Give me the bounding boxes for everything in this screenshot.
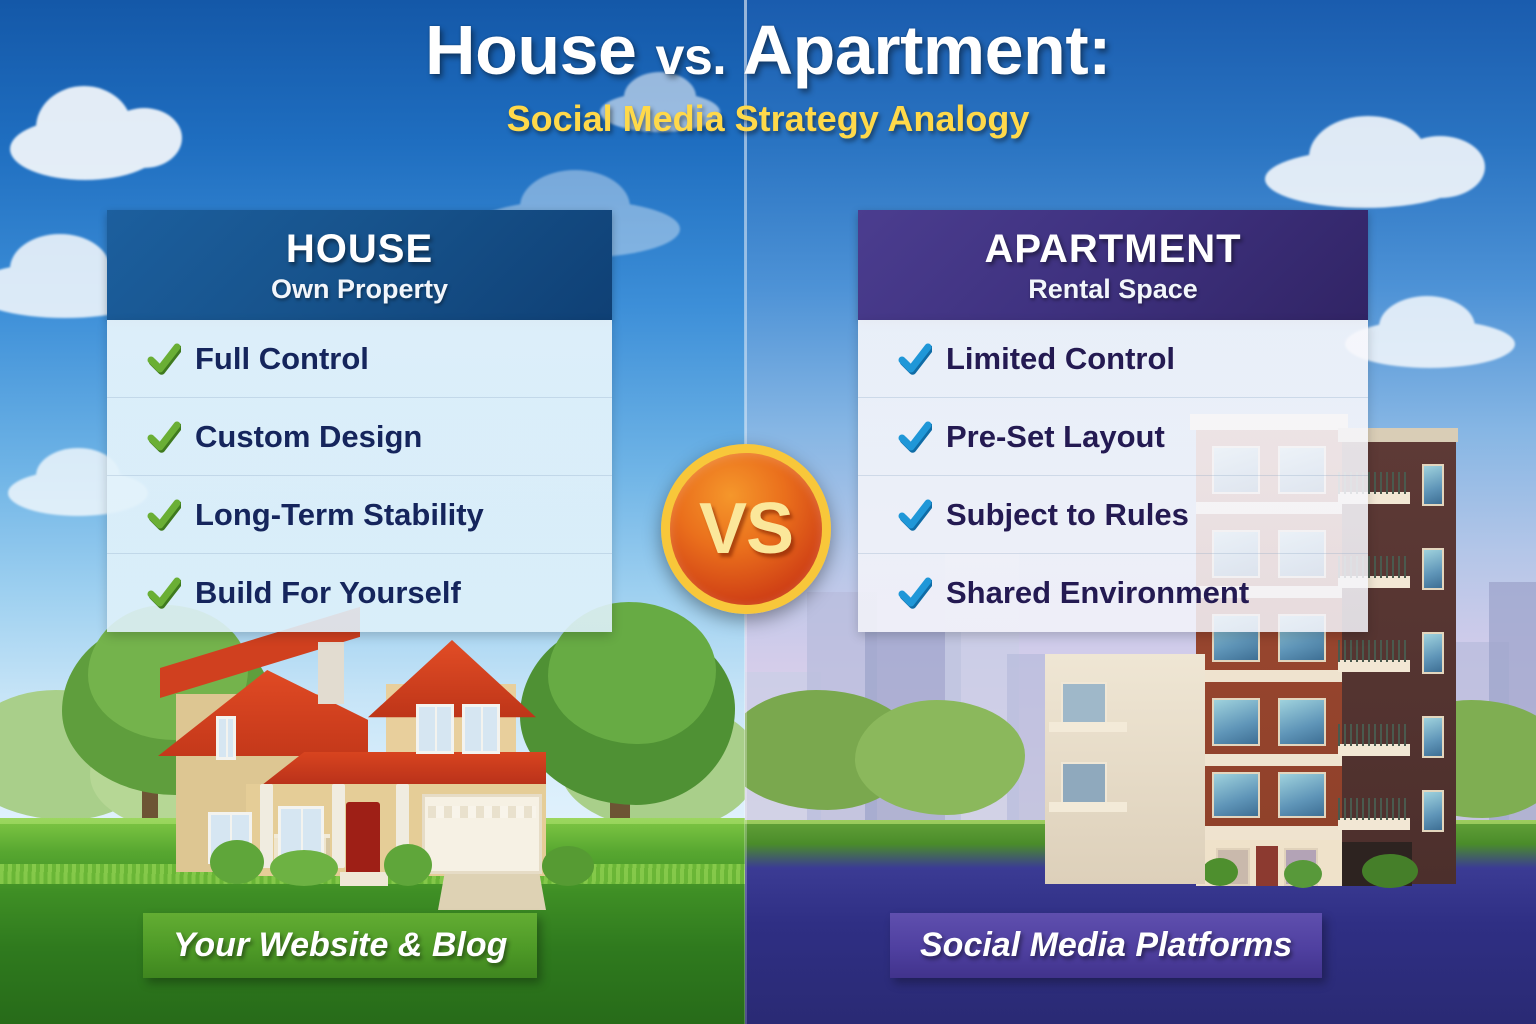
bush xyxy=(1362,854,1418,888)
chimney xyxy=(318,642,344,704)
page-title: House vs. Apartment: xyxy=(0,14,1536,88)
versus-badge-label: VS xyxy=(699,488,793,570)
house-panel-header: HOUSE Own Property xyxy=(107,210,612,320)
adjacent-building-window xyxy=(1061,762,1107,804)
title-part-two: Apartment: xyxy=(743,11,1111,89)
title-part-one: House xyxy=(425,11,636,89)
driveway xyxy=(438,874,546,910)
apartment-window xyxy=(1212,698,1260,746)
adjacent-building-window xyxy=(1061,682,1107,724)
list-item: Shared Environment xyxy=(858,554,1368,632)
garage-panel xyxy=(428,806,536,818)
list-item-label: Custom Design xyxy=(195,419,422,455)
check-icon xyxy=(147,498,181,532)
house-window xyxy=(216,716,236,760)
front-door xyxy=(346,802,380,874)
title-versus-word: vs. xyxy=(655,28,726,86)
background-foliage xyxy=(855,700,1025,815)
check-icon xyxy=(898,498,932,532)
adjacent-balcony-slab xyxy=(1049,802,1127,812)
apartment-window xyxy=(1422,464,1444,506)
check-icon xyxy=(898,576,932,610)
list-item-label: Full Control xyxy=(195,341,369,377)
house-panel-subheading: Own Property xyxy=(117,274,602,305)
list-item: Custom Design xyxy=(107,398,612,476)
bush xyxy=(210,840,264,884)
apartment-window xyxy=(1278,698,1326,746)
house-illustration xyxy=(150,634,610,884)
page-subtitle: Social Media Strategy Analogy xyxy=(0,98,1536,140)
bush xyxy=(270,850,338,886)
house-caption-label: Your Website & Blog xyxy=(173,926,507,964)
adjacent-balcony-slab xyxy=(1049,722,1127,732)
apartment-panel-subheading: Rental Space xyxy=(868,274,1358,305)
list-item-label: Long-Term Stability xyxy=(195,497,484,533)
list-item: Long-Term Stability xyxy=(107,476,612,554)
apartment-window xyxy=(1422,548,1444,590)
title-block: House vs. Apartment: Social Media Strate… xyxy=(0,14,1536,140)
apartment-window xyxy=(1422,632,1444,674)
apartment-caption-banner: Social Media Platforms xyxy=(890,913,1322,978)
floor-band xyxy=(1196,826,1342,840)
apartment-entry-door xyxy=(1256,846,1278,886)
list-item-label: Shared Environment xyxy=(946,575,1249,611)
balcony-railing xyxy=(1338,724,1410,746)
house-feature-list: Full Control Custom Design xyxy=(107,320,612,632)
bush xyxy=(542,846,594,886)
check-icon xyxy=(147,420,181,454)
check-icon xyxy=(147,342,181,376)
apartment-window xyxy=(1422,790,1444,832)
cloud-icon xyxy=(1265,150,1465,208)
apartment-window xyxy=(1212,772,1260,818)
apartment-caption-label: Social Media Platforms xyxy=(920,926,1292,964)
list-item: Pre-Set Layout xyxy=(858,398,1368,476)
list-item: Subject to Rules xyxy=(858,476,1368,554)
versus-badge: VS xyxy=(661,444,831,614)
list-item: Build For Yourself xyxy=(107,554,612,632)
infographic-canvas: House vs. Apartment: Social Media Strate… xyxy=(0,0,1536,1024)
house-window xyxy=(462,704,500,754)
bush xyxy=(1284,860,1322,888)
house-window xyxy=(416,704,454,754)
cloud-icon xyxy=(1345,320,1515,368)
house-caption-banner: Your Website & Blog xyxy=(143,913,537,978)
list-item: Limited Control xyxy=(858,320,1368,398)
apartment-feature-list: Limited Control Pre-Set Layout xyxy=(858,320,1368,632)
list-item-label: Subject to Rules xyxy=(946,497,1189,533)
apartment-window xyxy=(1278,772,1326,818)
bush xyxy=(1202,858,1238,886)
balcony-railing xyxy=(1338,640,1410,662)
check-icon xyxy=(147,576,181,610)
check-icon xyxy=(898,420,932,454)
list-item-label: Build For Yourself xyxy=(195,575,461,611)
floor-band xyxy=(1196,754,1342,766)
porch-column xyxy=(332,784,345,868)
apartment-window xyxy=(1422,716,1444,758)
list-item-label: Limited Control xyxy=(946,341,1175,377)
bush xyxy=(384,844,432,886)
front-steps xyxy=(340,872,388,886)
house-comparison-panel: HOUSE Own Property Full Control xyxy=(107,210,612,632)
floor-band xyxy=(1196,670,1342,682)
apartment-panel-heading: APARTMENT xyxy=(868,227,1358,272)
apartment-comparison-panel: APARTMENT Rental Space Limited Control xyxy=(858,210,1368,632)
check-icon xyxy=(898,342,932,376)
house-panel-heading: HOUSE xyxy=(117,227,602,272)
apartment-panel-header: APARTMENT Rental Space xyxy=(858,210,1368,320)
list-item: Full Control xyxy=(107,320,612,398)
list-item-label: Pre-Set Layout xyxy=(946,419,1165,455)
balcony-railing xyxy=(1338,798,1410,820)
